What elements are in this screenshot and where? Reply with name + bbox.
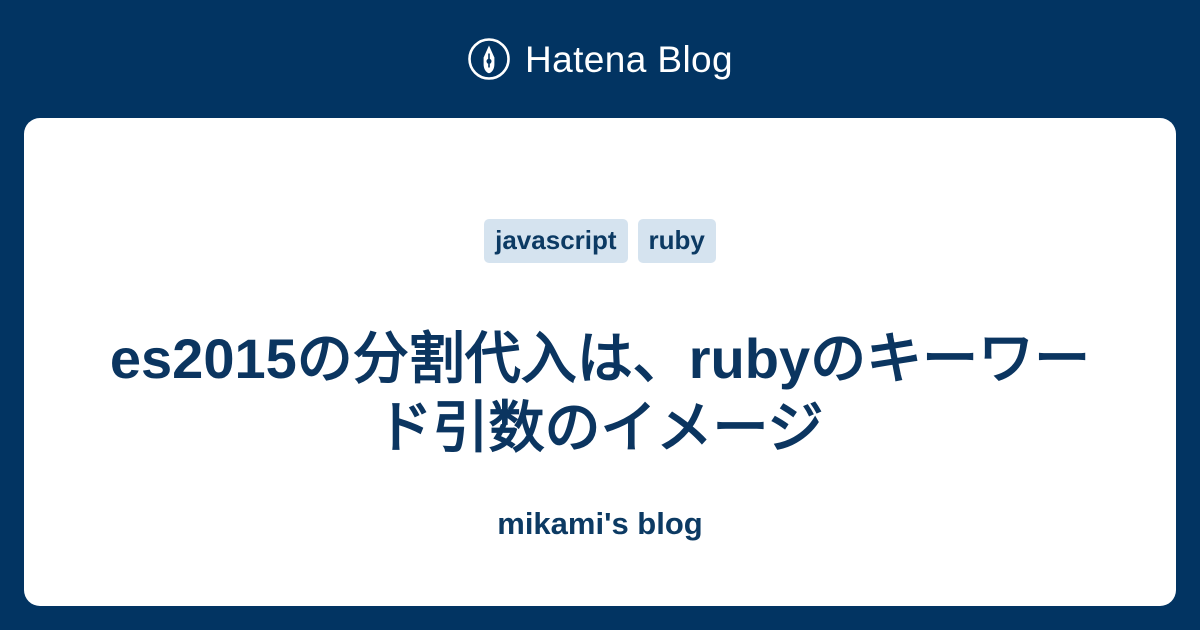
entry-title: es2015の分割代入は、rubyのキーワード引数のイメージ bbox=[84, 324, 1116, 463]
blog-name: mikami's blog bbox=[24, 505, 1176, 542]
fountain-pen-nib-in-circle-icon bbox=[467, 37, 511, 81]
entry-tag-javascript[interactable]: javascript bbox=[484, 219, 627, 263]
hatena-blog-brand-title: Hatena Blog bbox=[525, 41, 733, 78]
entry-content-card: javascript ruby es2015の分割代入は、rubyのキーワード引… bbox=[24, 118, 1176, 606]
entry-tag-list: javascript ruby bbox=[24, 219, 1176, 263]
hatena-blog-brand-header: Hatena Blog bbox=[0, 0, 1200, 118]
hatena-blog-logo bbox=[467, 37, 511, 81]
entry-tag-ruby[interactable]: ruby bbox=[638, 219, 716, 263]
ogp-card: Hatena Blog javascript ruby es2015の分割代入は… bbox=[0, 0, 1200, 630]
